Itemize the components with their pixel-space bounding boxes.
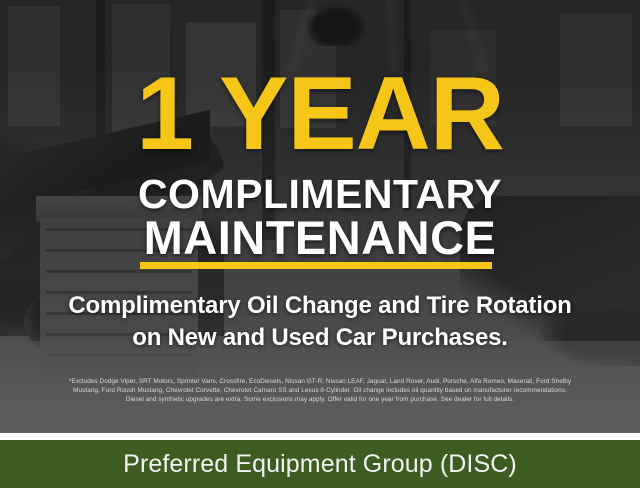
yellow-divider-bar [140,262,492,269]
subheadline-maintenance: MAINTENANCE [0,216,640,260]
banner-content: 1 YEAR COMPLIMENTARY MAINTENANCE Complim… [0,0,640,433]
equipment-group-footer: Preferred Equipment Group (DISC) [0,440,640,488]
offer-text-block: Complimentary Oil Change and Tire Rotati… [0,290,640,354]
promotional-banner: 1 YEAR COMPLIMENTARY MAINTENANCE Complim… [0,0,640,433]
subheadline-block: COMPLIMENTARY MAINTENANCE [0,172,640,260]
headline-one-year: 1 YEAR [0,62,640,166]
offer-line-1: Complimentary Oil Change and Tire Rotati… [0,290,640,322]
disclaimer-line-1: *Excludes Dodge Viper, SRT Motors, Sprin… [12,377,628,386]
disclaimer-line-2: Mustang, Ford Roush Mustang, Chevrolet C… [12,386,628,395]
disclaimer-line-3: Diesel and synthetic upgrades are extra.… [12,395,628,404]
disclaimer-block: *Excludes Dodge Viper, SRT Motors, Sprin… [12,377,628,405]
subheadline-complimentary: COMPLIMENTARY [0,172,640,216]
banner-footer-separator [0,433,640,440]
offer-line-2: on New and Used Car Purchases. [0,322,640,354]
equipment-group-label: Preferred Equipment Group (DISC) [123,450,517,479]
